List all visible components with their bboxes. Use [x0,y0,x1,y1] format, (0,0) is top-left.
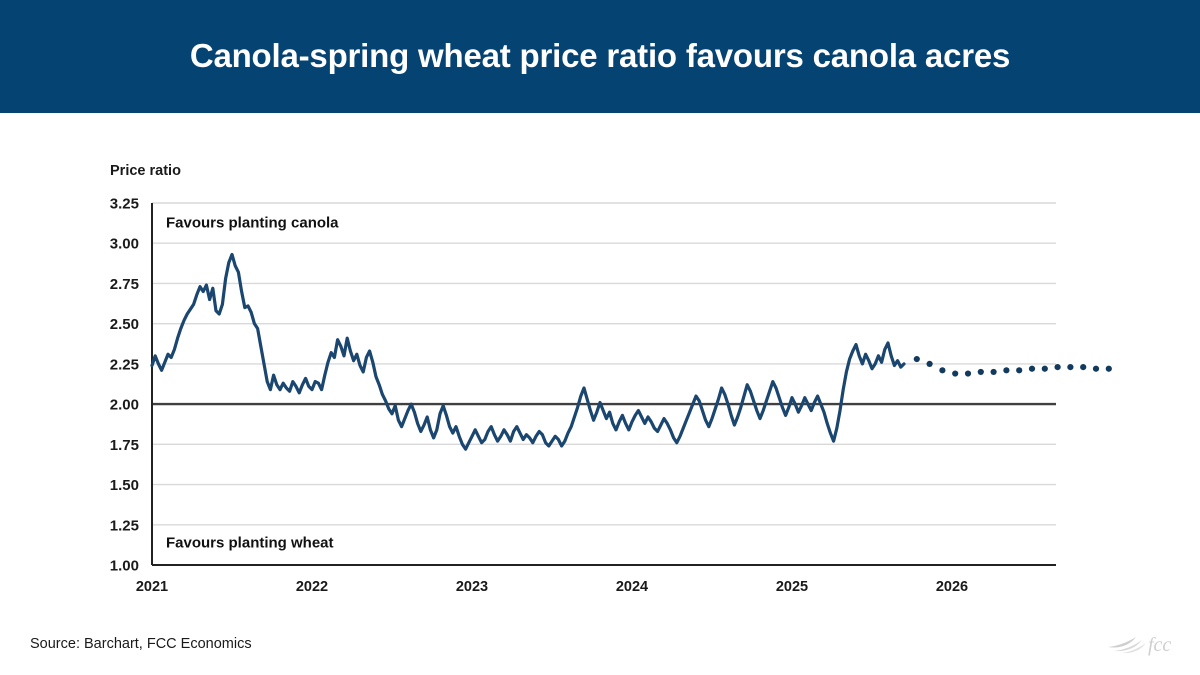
y-tick-label: 2.25 [110,356,139,373]
forecast-point [914,356,920,362]
forecast-point [927,361,933,367]
y-tick-label: 1.00 [110,558,139,575]
annotation-favours-wheat: Favours planting wheat [166,534,334,551]
y-tick-label: 2.75 [110,276,139,293]
forecast-point [1106,366,1112,372]
forecast-point [1042,366,1048,372]
header-banner: Canola-spring wheat price ratio favours … [0,0,1200,113]
chart-container: Price ratio 3.253.002.752.502.252.001.75… [0,113,1200,675]
annotation-favours-canola: Favours planting canola [166,214,339,231]
forecast-series-group [914,356,1112,377]
price-ratio-line-chart: 3.253.002.752.502.252.001.751.501.251.00… [0,113,1200,675]
svg-text:fcc: fcc [1148,634,1171,656]
page-title: Canola-spring wheat price ratio favours … [190,38,1010,74]
forecast-point [1029,366,1035,372]
y-tick-label: 3.00 [110,236,139,253]
x-tick-label: 2025 [776,579,808,595]
x-tick-label: 2026 [936,579,968,595]
forecast-point [978,369,984,375]
forecast-point [991,369,997,375]
x-tick-label: 2021 [136,579,168,595]
x-tick-label: 2024 [616,579,648,595]
x-tick-label: 2022 [296,579,328,595]
y-tick-label: 3.25 [110,196,139,213]
y-tick-label: 1.50 [110,477,139,494]
forecast-point [939,367,945,373]
x-axis-ticks: 202120222023202420252026 [136,579,968,595]
forecast-point [1003,367,1009,373]
forecast-point [952,370,958,376]
forecast-point [1080,364,1086,370]
y-tick-label: 2.00 [110,397,139,414]
forecast-point [965,370,971,376]
plot-border-group [152,203,1056,565]
forecast-point [1067,364,1073,370]
source-note: Source: Barchart, FCC Economics [30,636,252,652]
forecast-point [1055,364,1061,370]
x-tick-label: 2023 [456,579,488,595]
y-tick-label: 1.75 [110,437,139,454]
y-tick-label: 1.25 [110,517,139,534]
slide-root: Canola-spring wheat price ratio favours … [0,0,1200,675]
gridlines-group [152,203,1056,525]
forecast-point [1016,367,1022,373]
y-tick-label: 2.50 [110,316,139,333]
fcc-logo: fcc [1106,626,1178,660]
forecast-point [1093,366,1099,372]
y-axis-ticks: 3.253.002.752.502.252.001.751.501.251.00 [110,196,139,575]
